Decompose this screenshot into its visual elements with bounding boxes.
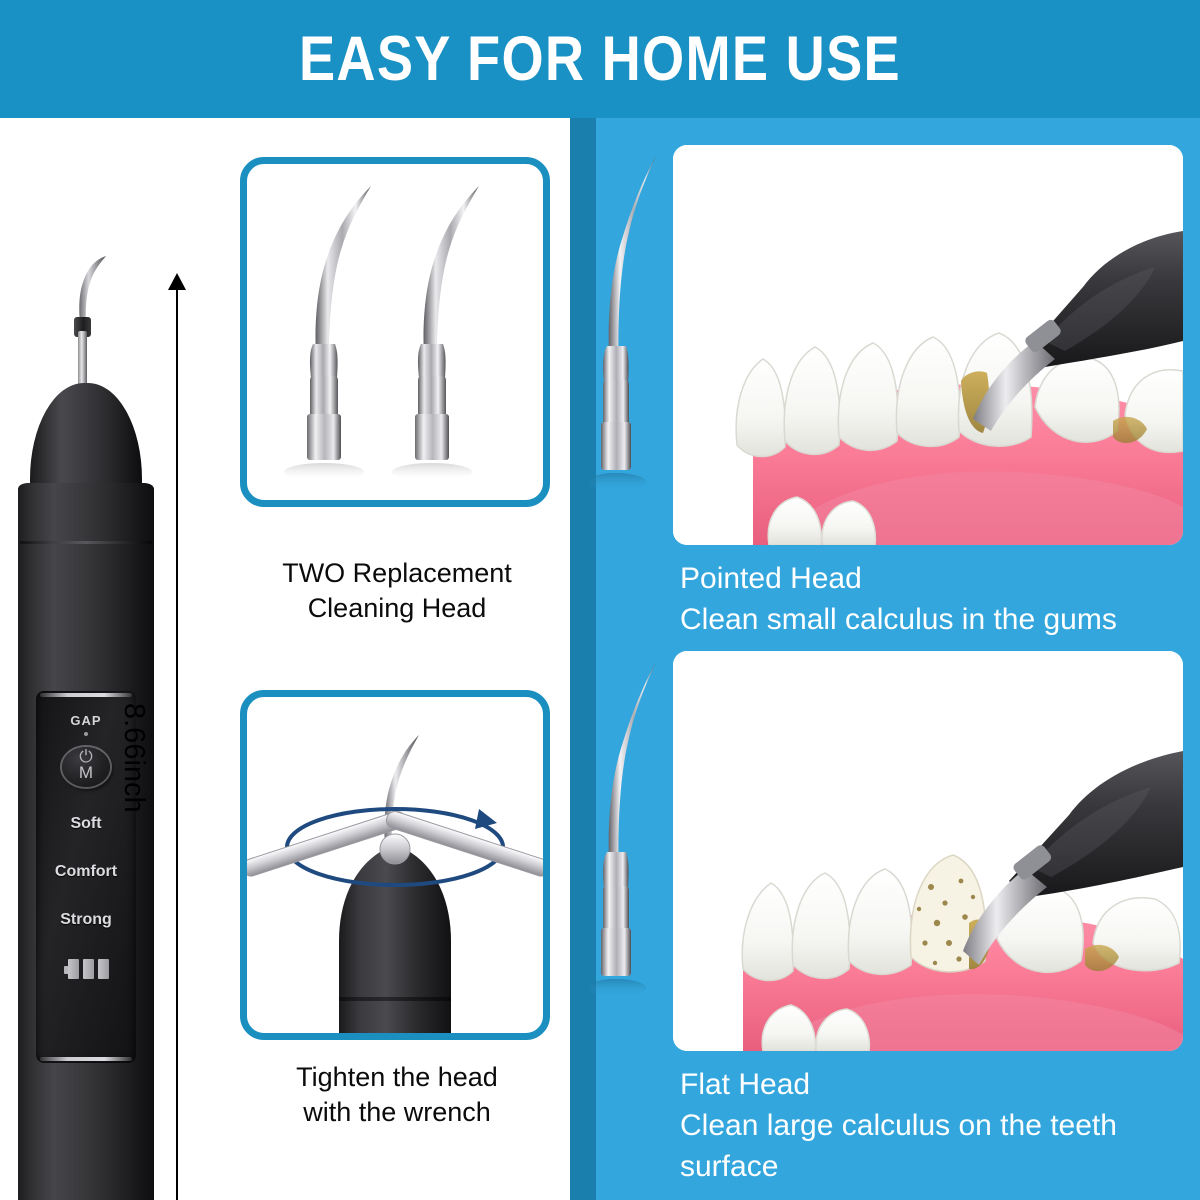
header-banner: EASY FOR HOME USE: [0, 0, 1200, 118]
mode-icon: M: [62, 763, 110, 783]
infographic-root: EASY FOR HOME USE: [0, 0, 1200, 1200]
flat-head-description: Clean large calculus on the teeth surfac…: [680, 1105, 1200, 1187]
wrench-card: [240, 690, 550, 1040]
panel-left-fade: [552, 118, 570, 1200]
caption-line-2: with the wrench: [232, 1095, 562, 1130]
replacement-heads-image: [247, 164, 543, 500]
gap-indicator-dot: [84, 732, 88, 736]
flat-head-title: Flat Head: [680, 1064, 1200, 1105]
caption-line-1: Tighten the head: [232, 1060, 562, 1095]
mode-label-comfort: Comfort: [36, 863, 136, 881]
flat-head-caption: Flat Head Clean large calculus on the te…: [680, 1064, 1200, 1187]
panel-chrome-top: [40, 693, 132, 697]
dimension-line: [176, 286, 178, 1200]
pointed-head-caption: Pointed Head Clean small calculus in the…: [680, 558, 1200, 640]
battery-bar: [83, 959, 94, 979]
pointed-head-description: Clean small calculus in the gums: [680, 599, 1200, 640]
device-seam: [20, 541, 152, 544]
battery-bar: [98, 959, 109, 979]
caption-line-1: TWO Replacement: [232, 556, 562, 591]
mode-label-soft: Soft: [36, 815, 136, 833]
pointed-head-tip-icon: [590, 148, 660, 548]
teeth-gums-illustration: [673, 145, 1183, 545]
dimension-label: 8.66inch: [117, 703, 150, 813]
pointed-head-title: Pointed Head: [680, 558, 1200, 599]
flat-head-tip-icon: [590, 654, 660, 1054]
pointed-head-photo: [673, 145, 1183, 545]
flat-head-photo: [673, 651, 1183, 1051]
caption-line-2: Cleaning Head: [232, 591, 562, 626]
right-blue-panel: Pointed Head Clean small calculus in the…: [570, 118, 1200, 1200]
page-title: EASY FOR HOME USE: [299, 23, 901, 95]
wrench-caption: Tighten the head with the wrench: [232, 1060, 562, 1130]
power-button[interactable]: ⏻ M: [62, 747, 110, 787]
battery-bar: [68, 959, 79, 979]
teeth-surface-illustration: [673, 651, 1183, 1051]
panel-chrome-bottom: [40, 1057, 132, 1061]
device-column: GAP ⏻ M Soft Comfort Strong: [0, 118, 230, 1200]
mode-label-strong: Strong: [36, 911, 136, 929]
replacement-heads-caption: TWO Replacement Cleaning Head: [232, 556, 562, 626]
battery-indicator: [64, 959, 112, 979]
replacement-heads-card: [240, 157, 550, 507]
scaler-tip-icon: [64, 255, 120, 325]
wrench-image: [247, 697, 543, 1033]
